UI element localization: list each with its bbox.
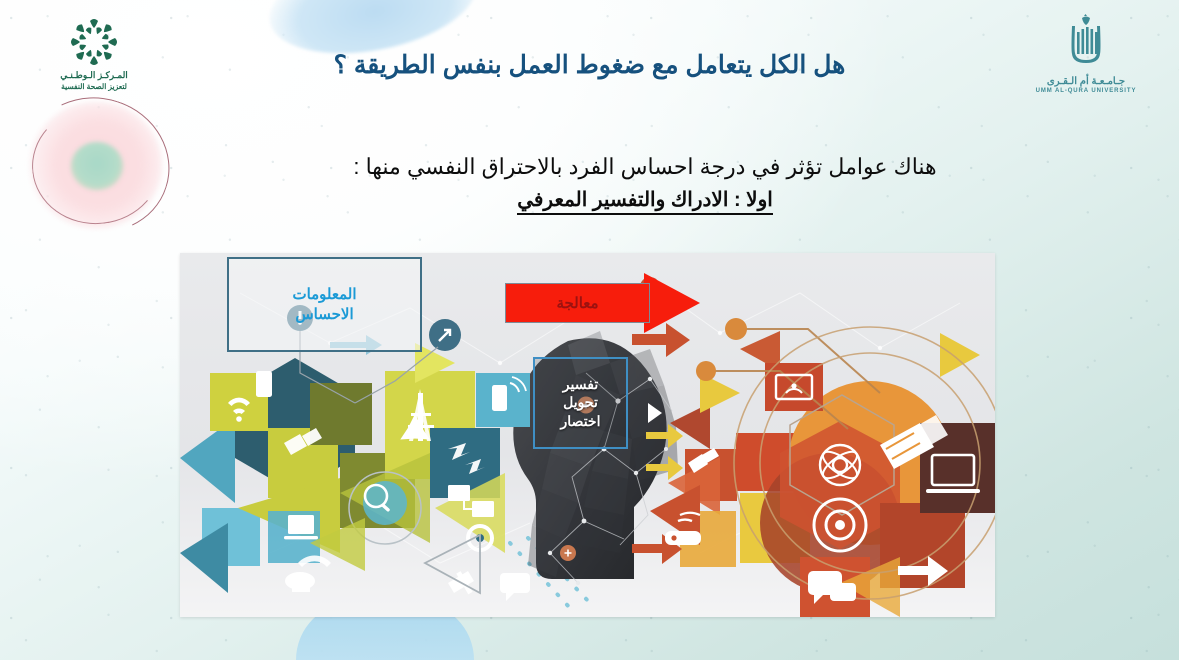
infographic-input-line2: الاحساس: [295, 306, 353, 323]
body-line-1: هناك عوامل تؤثر في درجة احساس الفرد بالا…: [145, 152, 1145, 182]
national-center-logo-line2: لتعزيز الصحة النفسية: [38, 82, 150, 91]
process-arrow-body: معالجة: [505, 283, 650, 323]
infographic-process-arrow: معالجة: [505, 273, 700, 333]
page-title: هل الكل يتعامل مع ضغوط العمل بنفس الطريق…: [0, 50, 1179, 80]
body-text: هناك عوامل تؤثر في درجة احساس الفرد بالا…: [145, 152, 1145, 215]
infographic-brain-line3: اختصار: [561, 413, 601, 431]
body-line-2: اولا : الادراك والتفسير المعرفي: [517, 187, 773, 215]
university-logo-line2: UMM AL-QURA UNIVERSITY: [1027, 88, 1145, 94]
infographic-brain-line2: تحويل: [563, 394, 598, 412]
infographic-brain-box: تفسير تحويل اختصار: [533, 357, 628, 449]
medallion-green-core: [71, 142, 123, 190]
infographic-input-line1: المعلومات: [292, 286, 356, 303]
infographic-input-box: المعلومات الاحساس: [227, 257, 422, 352]
process-arrow-head: [644, 273, 700, 333]
process-arrow-label: معالجة: [556, 294, 598, 312]
infographic-brain-line1: تفسير: [563, 376, 598, 394]
infographic-image: المعلومات الاحساس معالجة تفسير تحويل اخت…: [180, 253, 995, 617]
